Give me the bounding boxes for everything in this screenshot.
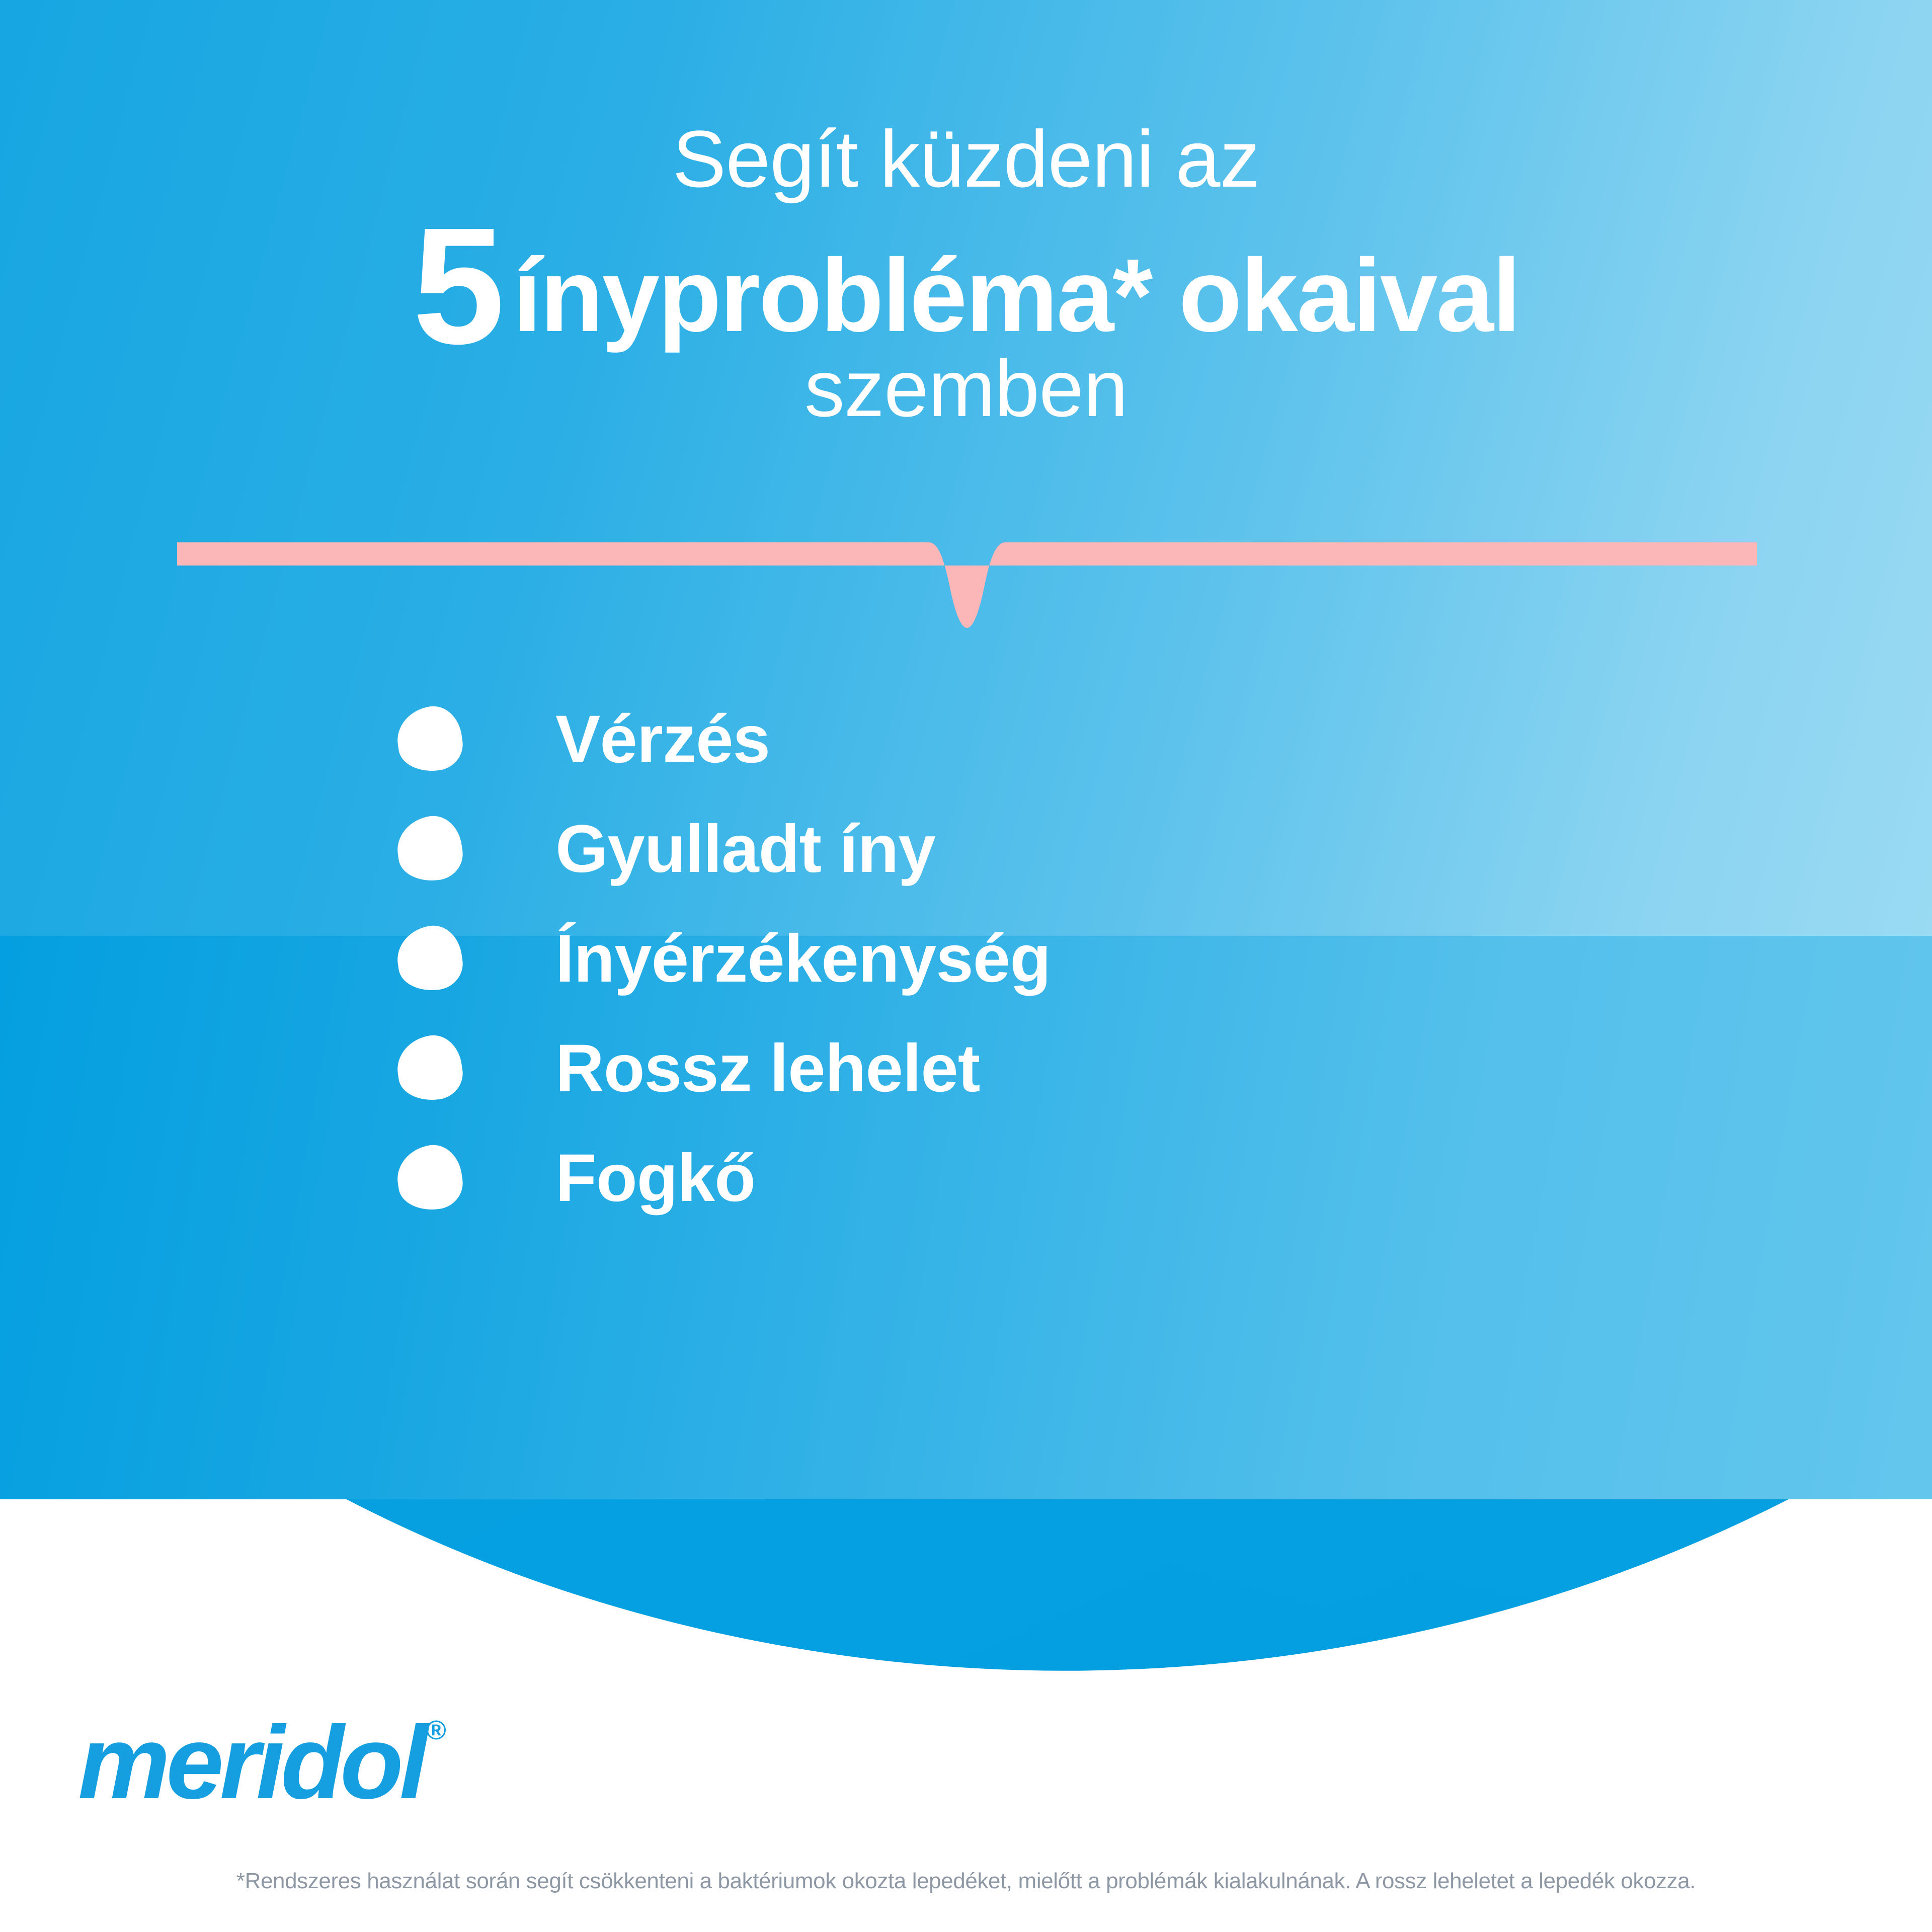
droplet-bullet-icon bbox=[393, 1032, 466, 1105]
benefit-label: Vérzés bbox=[555, 701, 770, 778]
list-item: Rossz lehelet bbox=[397, 1013, 1605, 1123]
headline-line-3: szemben bbox=[0, 348, 1932, 429]
benefit-label: Ínyérzékenység bbox=[555, 920, 1051, 997]
brand-logo-wordmark: meridol bbox=[78, 1711, 424, 1814]
headline-line-1: Segít küzdeni az bbox=[0, 116, 1932, 203]
pink-divider bbox=[177, 539, 1757, 645]
footnote-text: *Rendszeres használat során segít csökke… bbox=[0, 1869, 1932, 1894]
brand-logo: meridol ® bbox=[78, 1711, 446, 1814]
benefit-label: Fogkő bbox=[555, 1140, 755, 1217]
headline-emphasis: ínyprobléma* okaival bbox=[513, 244, 1519, 347]
content-layer: Segít küzdeni az 5 ínyprobléma* okaival … bbox=[0, 0, 1932, 1932]
droplet-bullet-icon bbox=[393, 703, 466, 776]
benefit-label: Gyulladt íny bbox=[555, 811, 935, 888]
headline-line-2: 5 ínyprobléma* okaival bbox=[0, 206, 1932, 347]
benefit-label: Rossz lehelet bbox=[555, 1030, 980, 1107]
droplet-bullet-icon bbox=[393, 1142, 466, 1215]
list-item: Gyulladt íny bbox=[397, 794, 1605, 904]
list-item: Ínyérzékenység bbox=[397, 904, 1605, 1013]
headline-number: 5 bbox=[413, 218, 500, 354]
pink-divider-shape bbox=[177, 539, 1757, 645]
poster-root: Segít küzdeni az 5 ínyprobléma* okaival … bbox=[0, 0, 1932, 1932]
list-item: Vérzés bbox=[397, 684, 1605, 794]
droplet-bullet-icon bbox=[393, 813, 466, 886]
registered-trademark-icon: ® bbox=[426, 1717, 446, 1744]
droplet-bullet-icon bbox=[393, 922, 466, 995]
headline-block: Segít küzdeni az 5 ínyprobléma* okaival … bbox=[0, 116, 1932, 429]
list-item: Fogkő bbox=[397, 1123, 1605, 1233]
benefits-list: Vérzés Gyulladt íny Ínyérzékenység Rossz… bbox=[397, 684, 1605, 1233]
